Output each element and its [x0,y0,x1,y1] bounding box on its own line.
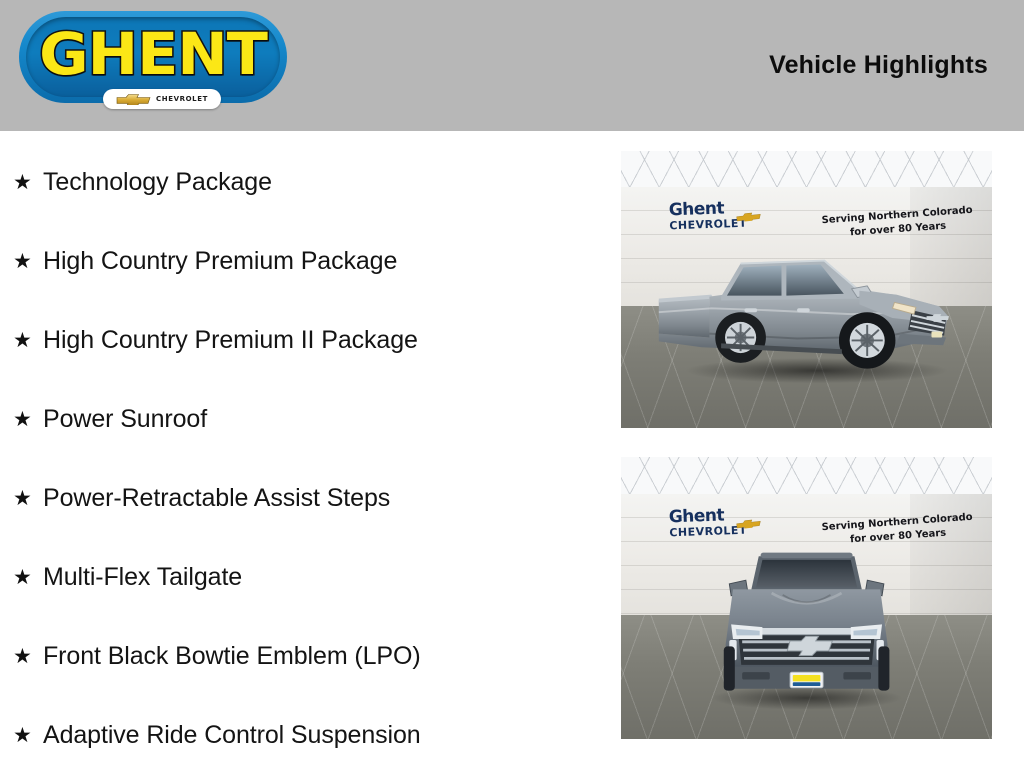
star-bullet-icon: ★ [13,646,43,667]
highlight-label: Technology Package [43,168,272,197]
list-item: ★ High Country Premium Package [0,222,600,301]
highlight-label: High Country Premium Package [43,247,397,276]
highlight-label: Front Black Bowtie Emblem (LPO) [43,642,421,671]
highlight-label: Power-Retractable Assist Steps [43,484,390,513]
highlight-label: Power Sunroof [43,405,207,434]
star-bullet-icon: ★ [13,251,43,272]
highlight-label: Multi-Flex Tailgate [43,563,242,592]
page-title: Vehicle Highlights [769,51,988,80]
list-item: ★ Front Black Bowtie Emblem (LPO) [0,617,600,696]
star-bullet-icon: ★ [13,488,43,509]
logo-wordmark: GHENT [14,18,293,90]
list-item: ★ Power-Retractable Assist Steps [0,459,600,538]
list-item: ★ Adaptive Ride Control Suspension [0,696,600,768]
logo-chevrolet-badge: CHEVROLET [103,89,221,109]
star-bullet-icon: ★ [13,725,43,746]
star-bullet-icon: ★ [13,330,43,351]
silverado-front-view-illustration [699,536,914,711]
list-item: ★ Multi-Flex Tailgate [0,538,600,617]
list-item: ★ High Country Premium II Package [0,301,600,380]
vehicle-photo-front-view[interactable]: Ghent CHEVROLET Serving Northern Colorad… [621,457,992,739]
vehicle-highlights-list: ★ Technology Package ★ High Country Prem… [0,143,600,768]
content-area: ★ Technology Package ★ High Country Prem… [0,131,1024,768]
logo-badge-text: CHEVROLET [156,95,208,103]
star-bullet-icon: ★ [13,172,43,193]
list-item: ★ Power Sunroof [0,380,600,459]
highlight-label: High Country Premium II Package [43,326,418,355]
showroom-scene: Ghent CHEVROLET Serving Northern Colorad… [621,151,992,428]
silverado-side-view-illustration [651,237,963,389]
star-bullet-icon: ★ [13,409,43,430]
star-bullet-icon: ★ [13,567,43,588]
ghent-chevrolet-logo: GHENT CHEVROLET [19,11,287,117]
page-header: GHENT CHEVROLET Vehicle Highlights [0,0,1024,131]
highlight-label: Adaptive Ride Control Suspension [43,721,421,750]
vehicle-photo-side-view[interactable]: Ghent CHEVROLET Serving Northern Colorad… [621,151,992,428]
list-item: ★ Technology Package [0,143,600,222]
chevrolet-bowtie-icon [116,93,152,105]
showroom-scene: Ghent CHEVROLET Serving Northern Colorad… [621,457,992,739]
